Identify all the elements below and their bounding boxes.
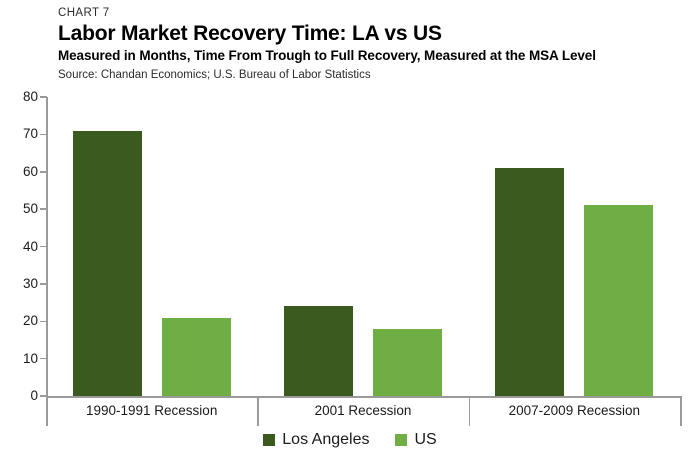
bar-los-angeles[interactable] [73,131,142,396]
x-axis-category-label: 1990-1991 Recession [46,401,257,421]
legend-item[interactable]: Los Angeles [263,431,369,449]
legend-item[interactable]: US [395,431,436,449]
legend-swatch-icon [263,434,275,446]
bar-us[interactable] [584,205,653,396]
category-separator [469,396,471,426]
plot-area: 01020304050607080 1990-1991 Recession200… [0,0,700,466]
chart-container: CHART 7 Labor Market Recovery Time: LA v… [0,0,700,466]
x-axis-category-label: 2007-2009 Recession [469,401,680,421]
legend-label: US [414,431,436,449]
legend-label: Los Angeles [282,431,369,449]
bars-layer [0,0,700,396]
bar-los-angeles[interactable] [284,306,353,396]
chart-legend: Los AngelesUS [0,431,700,449]
category-separator [680,396,682,426]
category-separator [46,396,48,426]
bar-los-angeles[interactable] [495,168,564,396]
bar-us[interactable] [162,318,231,396]
x-axis-category-label: 2001 Recession [257,401,468,421]
bar-us[interactable] [373,329,442,396]
legend-swatch-icon [395,434,407,446]
category-separator [257,396,259,426]
x-axis-line [46,396,680,398]
